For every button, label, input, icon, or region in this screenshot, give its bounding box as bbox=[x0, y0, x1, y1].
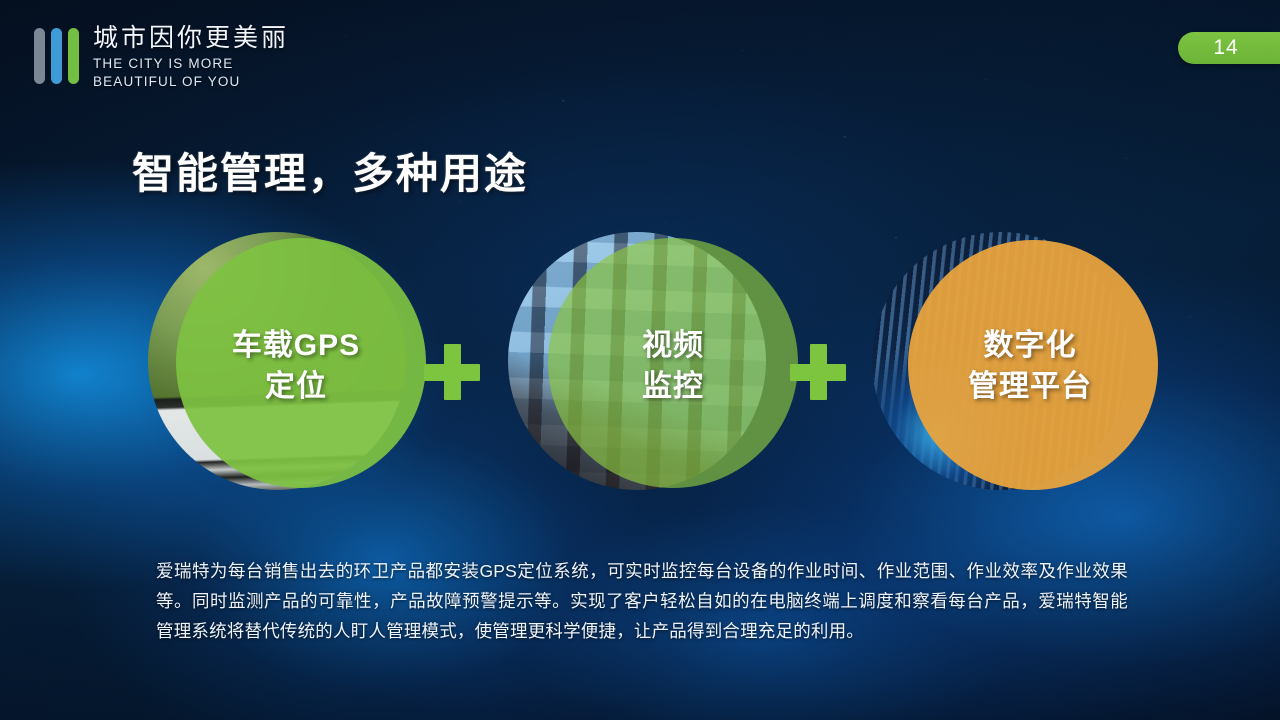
green-overlay-disc bbox=[176, 238, 426, 488]
brand-logo: 城市因你更美丽 THE CITY IS MORE BEAUTIFUL OF YO… bbox=[34, 24, 289, 91]
logo-bar-blue-icon bbox=[51, 28, 62, 84]
body-paragraph-text: 爱瑞特为每台销售出去的环卫产品都安装GPS定位系统，可实时监控每台设备的作业时间… bbox=[156, 556, 1128, 646]
brand-tagline-line2: BEAUTIFUL OF YOU bbox=[93, 73, 289, 91]
plus-separator-1-icon bbox=[424, 344, 480, 400]
brand-name-cn: 城市因你更美丽 bbox=[93, 24, 289, 52]
orange-overlay-disc bbox=[908, 240, 1158, 490]
page-number-badge: 14 bbox=[1178, 32, 1280, 64]
plus-separator-2-icon bbox=[790, 344, 846, 400]
page-number-value: 14 bbox=[1213, 36, 1238, 60]
brand-tagline: THE CITY IS MORE BEAUTIFUL OF YOU bbox=[93, 55, 289, 91]
logo-bar-gray-icon bbox=[34, 28, 45, 84]
brand-text-block: 城市因你更美丽 THE CITY IS MORE BEAUTIFUL OF YO… bbox=[93, 24, 289, 91]
diagram-item-platform: 数字化 管理平台 bbox=[872, 232, 1140, 500]
logo-bar-green-icon bbox=[68, 28, 79, 84]
logo-bars-icon bbox=[34, 28, 79, 84]
concept-diagram: 车载GPS 定位 视频 监控 数字化 管理平台 bbox=[0, 232, 1280, 500]
presentation-slide: 城市因你更美丽 THE CITY IS MORE BEAUTIFUL OF YO… bbox=[0, 0, 1280, 720]
body-paragraph: 爱瑞特为每台销售出去的环卫产品都安装GPS定位系统，可实时监控每台设备的作业时间… bbox=[156, 556, 1128, 646]
brand-tagline-line1: THE CITY IS MORE bbox=[93, 55, 289, 73]
diagram-item-video: 视频 监控 bbox=[508, 232, 776, 500]
page-title: 智能管理，多种用途 bbox=[132, 140, 528, 201]
diagram-item-gps: 车载GPS 定位 bbox=[148, 232, 416, 500]
light-green-overlay-disc bbox=[548, 238, 798, 488]
